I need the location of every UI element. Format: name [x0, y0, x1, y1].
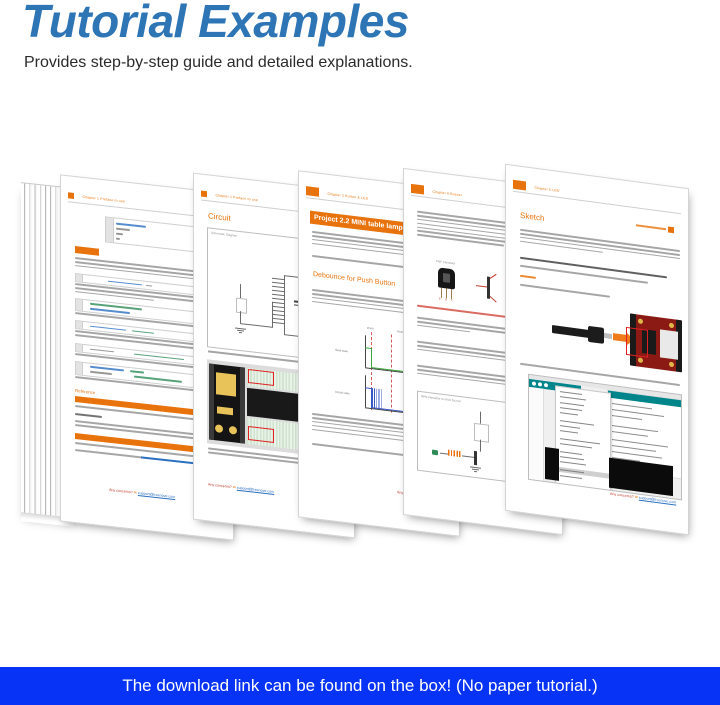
page-2-footer-prefix: Any concerns? [208, 482, 232, 489]
page-subtitle: Provides step-by-step guide and detailed… [24, 54, 413, 72]
switch-symbol [240, 284, 241, 298]
page-5-heading: Sketch [520, 211, 544, 223]
pnp-transistor-caption: PNP transistor [436, 259, 455, 265]
page-4-chapter: Chapter 6 Buzzer [432, 189, 462, 197]
page-2-footer: Any concerns? ✉ support@freenove.com [208, 482, 274, 494]
buzzer-symbol [474, 423, 489, 443]
chart-label-ideal: Ideal state [335, 348, 348, 354]
page-5-option-label [520, 275, 560, 284]
envelope-icon: ✉ [134, 491, 137, 495]
page-4-number-badge [411, 184, 424, 195]
download-link-banner: The download link can be found on the bo… [0, 667, 720, 705]
page-2-chapter: Chapter 1 Preface to use [215, 193, 258, 202]
envelope-icon: ✉ [233, 485, 236, 489]
transistor-schematic-symbol [476, 272, 502, 303]
page-1-footer-prefix: Any concerns? [109, 488, 133, 495]
esp32-connection-photo [552, 301, 682, 376]
page-2-heading: Circuit [208, 211, 231, 223]
ground-symbol [470, 466, 481, 473]
page-1-result-heading [75, 246, 99, 256]
envelope-icon: ✉ [635, 495, 638, 499]
ide-tools-menu[interactable] [555, 385, 611, 490]
chapter-marker-icon [68, 192, 74, 199]
chart-label-press: press [367, 326, 374, 331]
ide-terminal-left [545, 447, 559, 481]
page-3-heading: Project 2.2 MINI table lamp [314, 214, 403, 232]
page-3-subheading: Debounce for Push Button [313, 271, 395, 288]
page-2-footer-link[interactable]: support@freenove.com [237, 486, 274, 494]
page-3-chapter: Chapter 2 Button & LED [327, 192, 368, 201]
page-3-number-badge [306, 186, 319, 197]
page-5-number-badge [513, 180, 526, 191]
npn-driver-caption: NPN transistor to drive buzzer [421, 394, 461, 403]
page-header: Tutorial Examples Provides step-by-step … [0, 0, 720, 92]
page-1-footer-link[interactable]: support@freenove.com [138, 491, 175, 499]
page-5-connect-line [520, 284, 680, 309]
arduino-ide-screenshot [528, 374, 682, 501]
brand-logo [634, 222, 674, 234]
highlight-box-top [248, 369, 274, 386]
ground-symbol-left [235, 327, 246, 334]
chart-label-actual: Actual state [335, 390, 350, 396]
tutorial-pages-illustration: Chapter 1 Preface to use [0, 92, 720, 652]
usb-port-highlight-box [626, 327, 648, 358]
page-title: Tutorial Examples [22, 0, 409, 44]
bounce-spikes-press [372, 388, 382, 409]
npn-driver-figure: NPN transistor to drive buzzer [417, 391, 511, 483]
chapter-marker-icon [201, 190, 207, 197]
page-1-reference-heading: Reference [75, 388, 95, 395]
page-1-chapter: Chapter 1 Preface to use [82, 195, 125, 204]
pnp-transistor-photo: E B C [434, 267, 460, 304]
usb-cable [552, 325, 592, 338]
page-1-footer: Any concerns? ✉ support@freenove.com [109, 488, 175, 499]
highlight-box-bottom [248, 426, 274, 443]
page-5-chapter: Chapter 5 LED [534, 185, 559, 192]
tutorial-page-5: Chapter 5 LED Sketch [505, 164, 689, 536]
schematic-caption: Schematic Diagram [211, 231, 237, 238]
ide-sidebar [529, 386, 544, 481]
orange-arrow-icon [613, 333, 627, 342]
resistor-symbol [448, 450, 462, 458]
banner-text: The download link can be found on the bo… [0, 667, 720, 705]
